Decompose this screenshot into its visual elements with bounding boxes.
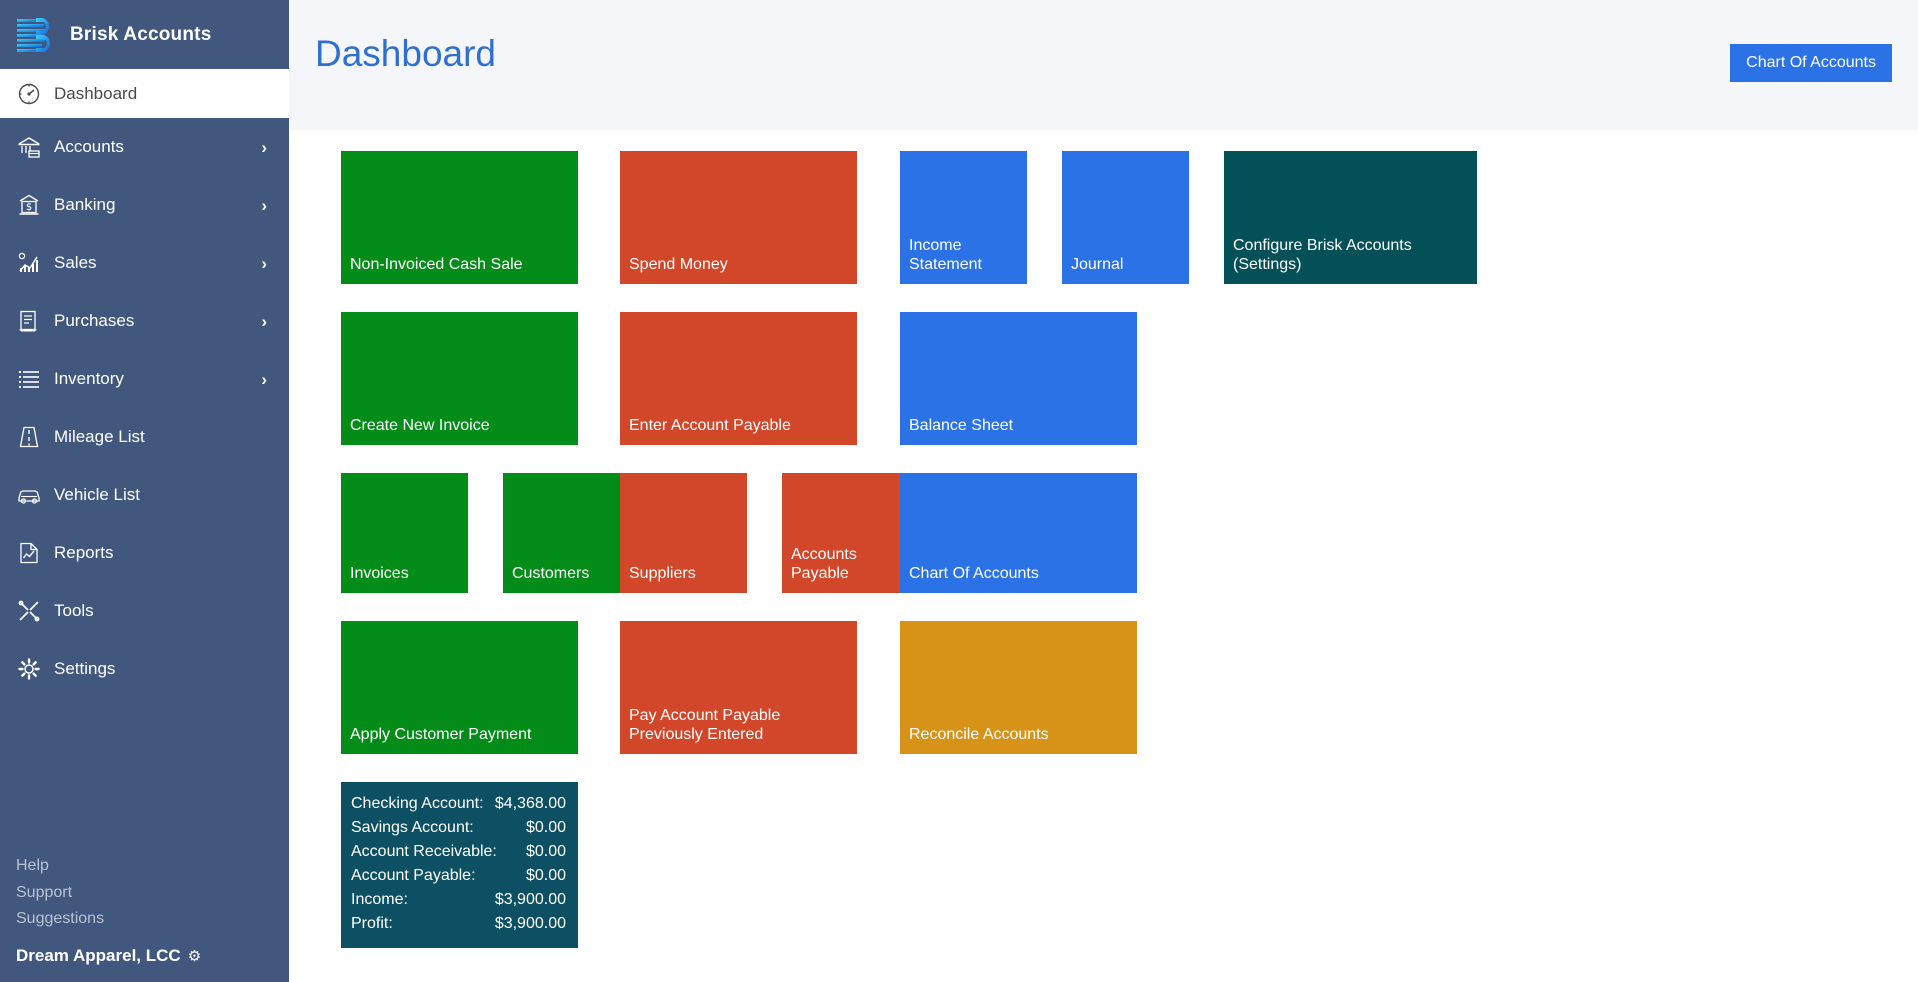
tile-label: Customers: [512, 565, 622, 584]
tile-slot: Balance Sheet: [900, 312, 1180, 445]
tile-customers[interactable]: Customers: [503, 473, 630, 593]
tile-enter-account-payable[interactable]: Enter Account Payable: [620, 312, 857, 445]
tile-label: Accounts Payable: [791, 546, 901, 584]
tools-icon: [16, 598, 42, 624]
tile-label: Configure Brisk Accounts (Settings): [1233, 237, 1469, 275]
tile-slot: Income Statement Journal: [900, 151, 1180, 284]
tile-slot: Pay Account Payable Previously Entered: [620, 621, 900, 754]
gear-icon: [16, 656, 42, 682]
tile-slot: Reconcile Accounts: [900, 621, 1180, 754]
suggestions-link[interactable]: Suggestions: [16, 908, 289, 930]
tile-row-3: Invoices Customers Suppliers Accounts Pa: [341, 473, 1918, 593]
tile-label: Apply Customer Payment: [350, 726, 570, 745]
summary-row: Checking Account: $4,368.00: [351, 792, 566, 816]
summary-row: Account Payable: $0.00: [351, 864, 566, 888]
summary-label: Account Receivable:: [351, 843, 497, 861]
sidebar-item-label: Banking: [54, 195, 249, 215]
brisk-b-logo-icon: [14, 15, 56, 55]
svg-text:$: $: [26, 202, 32, 213]
sidebar-item-label: Purchases: [54, 311, 249, 331]
sidebar-item-banking[interactable]: $ Banking ›: [0, 176, 289, 234]
tile-label: Chart Of Accounts: [909, 565, 1129, 584]
help-link[interactable]: Help: [16, 855, 289, 877]
tile-create-new-invoice[interactable]: Create New Invoice: [341, 312, 578, 445]
tile-label: Spend Money: [629, 256, 849, 275]
sidebar-item-dashboard[interactable]: Dashboard: [0, 69, 289, 118]
tile-slot: Create New Invoice: [341, 312, 620, 445]
sidebar-item-label: Tools: [54, 601, 267, 621]
summary-value: $0.00: [526, 819, 566, 837]
sidebar-spacer: [0, 698, 289, 855]
tile-reconcile-accounts[interactable]: Reconcile Accounts: [900, 621, 1137, 754]
sidebar-item-label: Accounts: [54, 137, 249, 157]
summary-row: Savings Account: $0.00: [351, 816, 566, 840]
tile-label: Pay Account Payable Previously Entered: [629, 707, 849, 745]
sidebar-item-label: Settings: [54, 659, 267, 679]
tile-row-1: Non-Invoiced Cash Sale Spend Money Incom…: [341, 151, 1918, 284]
tile-configure-brisk-accounts[interactable]: Configure Brisk Accounts (Settings): [1224, 151, 1477, 284]
sidebar-item-mileage-list[interactable]: Mileage List: [0, 408, 289, 466]
sidebar-item-label: Inventory: [54, 369, 249, 389]
app-root: Brisk Accounts Dashboard: [0, 0, 1918, 982]
car-icon: [16, 482, 42, 508]
tile-pair: Suppliers Accounts Payable: [620, 473, 900, 593]
bank-card-icon: [16, 134, 42, 160]
summary-label: Savings Account:: [351, 819, 474, 837]
account-summary-panel: Checking Account: $4,368.00 Savings Acco…: [341, 782, 578, 948]
chart-of-accounts-button[interactable]: Chart Of Accounts: [1730, 44, 1892, 82]
bank-dollar-icon: $: [16, 192, 42, 218]
chevron-right-icon: ›: [261, 197, 267, 214]
tile-label: Invoices: [350, 565, 460, 584]
summary-value: $3,900.00: [495, 891, 566, 909]
receipt-icon: [16, 308, 42, 334]
tile-label: Journal: [1071, 256, 1181, 275]
sidebar-item-label: Mileage List: [54, 427, 267, 447]
gear-icon[interactable]: ⚙: [188, 947, 201, 965]
summary-label: Checking Account:: [351, 795, 484, 813]
chevron-right-icon: ›: [261, 139, 267, 156]
tile-slot: Configure Brisk Accounts (Settings): [1224, 151, 1477, 284]
sidebar-item-accounts[interactable]: Accounts ›: [0, 118, 289, 176]
sidebar-footer-links: Help Support Suggestions: [0, 855, 289, 936]
tile-journal[interactable]: Journal: [1062, 151, 1189, 284]
sales-chart-icon: [16, 250, 42, 276]
sidebar-item-label: Reports: [54, 543, 267, 563]
summary-value: $4,368.00: [495, 795, 566, 813]
tile-accounts-payable[interactable]: Accounts Payable: [782, 473, 909, 593]
support-link[interactable]: Support: [16, 882, 289, 904]
page-title: Dashboard: [315, 35, 496, 72]
tile-invoices[interactable]: Invoices: [341, 473, 468, 593]
list-icon: [16, 366, 42, 392]
tile-row-4: Apply Customer Payment Pay Account Payab…: [341, 621, 1918, 754]
tile-label: Suppliers: [629, 565, 739, 584]
tile-apply-customer-payment[interactable]: Apply Customer Payment: [341, 621, 578, 754]
tile-label: Income Statement: [909, 237, 1019, 275]
summary-row: Income: $3,900.00: [351, 888, 566, 912]
sidebar-item-purchases[interactable]: Purchases ›: [0, 292, 289, 350]
brand-name: Brisk Accounts: [70, 24, 211, 46]
dashboard-content: Non-Invoiced Cash Sale Spend Money Incom…: [315, 130, 1918, 982]
summary-label: Account Payable:: [351, 867, 476, 885]
tile-label: Create New Invoice: [350, 417, 570, 436]
tile-slot: Chart Of Accounts: [900, 473, 1180, 593]
sidebar-item-label: Dashboard: [54, 84, 267, 104]
tile-slot: Enter Account Payable: [620, 312, 900, 445]
tile-spend-money[interactable]: Spend Money: [620, 151, 857, 284]
speedometer-icon: [16, 81, 42, 107]
main-area: Dashboard Chart Of Accounts Non-Invoiced…: [289, 0, 1918, 982]
tile-label: Enter Account Payable: [629, 417, 849, 436]
chevron-right-icon: ›: [261, 255, 267, 272]
chevron-right-icon: ›: [261, 313, 267, 330]
top-bar: Dashboard Chart Of Accounts: [289, 0, 1918, 130]
summary-row: Account Receivable: $0.00: [351, 840, 566, 864]
tile-row-2: Create New Invoice Enter Account Payable…: [341, 312, 1918, 445]
tile-slot: Suppliers Accounts Payable: [620, 473, 900, 593]
tile-pay-account-payable[interactable]: Pay Account Payable Previously Entered: [620, 621, 857, 754]
tile-label: Non-Invoiced Cash Sale: [350, 256, 570, 275]
company-selector[interactable]: Dream Apparel, LCC ⚙: [0, 936, 289, 982]
chevron-right-icon: ›: [261, 371, 267, 388]
summary-label: Profit:: [351, 915, 393, 933]
summary-value: $0.00: [526, 867, 566, 885]
tile-pair: Invoices Customers: [341, 473, 620, 593]
sidebar-item-label: Vehicle List: [54, 485, 267, 505]
tile-slot: Apply Customer Payment: [341, 621, 620, 754]
sidebar-nav: Dashboard Accounts ›: [0, 69, 289, 698]
tile-balance-sheet[interactable]: Balance Sheet: [900, 312, 1137, 445]
tile-label: Balance Sheet: [909, 417, 1129, 436]
tile-suppliers[interactable]: Suppliers: [620, 473, 747, 593]
summary-row: Profit: $3,900.00: [351, 912, 566, 936]
road-icon: [16, 424, 42, 450]
sidebar-item-inventory[interactable]: Inventory ›: [0, 350, 289, 408]
tile-slot: Invoices Customers: [341, 473, 620, 593]
summary-value: $3,900.00: [495, 915, 566, 933]
sidebar-item-reports[interactable]: Reports: [0, 524, 289, 582]
summary-value: $0.00: [526, 843, 566, 861]
sidebar: Brisk Accounts Dashboard: [0, 0, 289, 982]
sidebar-item-settings[interactable]: Settings: [0, 640, 289, 698]
summary-label: Income:: [351, 891, 408, 909]
sidebar-item-tools[interactable]: Tools: [0, 582, 289, 640]
report-chart-icon: [16, 540, 42, 566]
tile-pair: Income Statement Journal: [900, 151, 1180, 284]
tile-slot: Non-Invoiced Cash Sale: [341, 151, 620, 284]
sidebar-item-vehicle-list[interactable]: Vehicle List: [0, 466, 289, 524]
tile-non-invoiced-cash-sale[interactable]: Non-Invoiced Cash Sale: [341, 151, 578, 284]
brand-header[interactable]: Brisk Accounts: [0, 0, 289, 69]
tile-income-statement[interactable]: Income Statement: [900, 151, 1027, 284]
company-name: Dream Apparel, LCC: [16, 946, 181, 966]
tile-label: Reconcile Accounts: [909, 726, 1129, 745]
sidebar-item-label: Sales: [54, 253, 249, 273]
tile-chart-of-accounts[interactable]: Chart Of Accounts: [900, 473, 1137, 593]
tile-slot: Spend Money: [620, 151, 900, 284]
sidebar-item-sales[interactable]: Sales ›: [0, 234, 289, 292]
